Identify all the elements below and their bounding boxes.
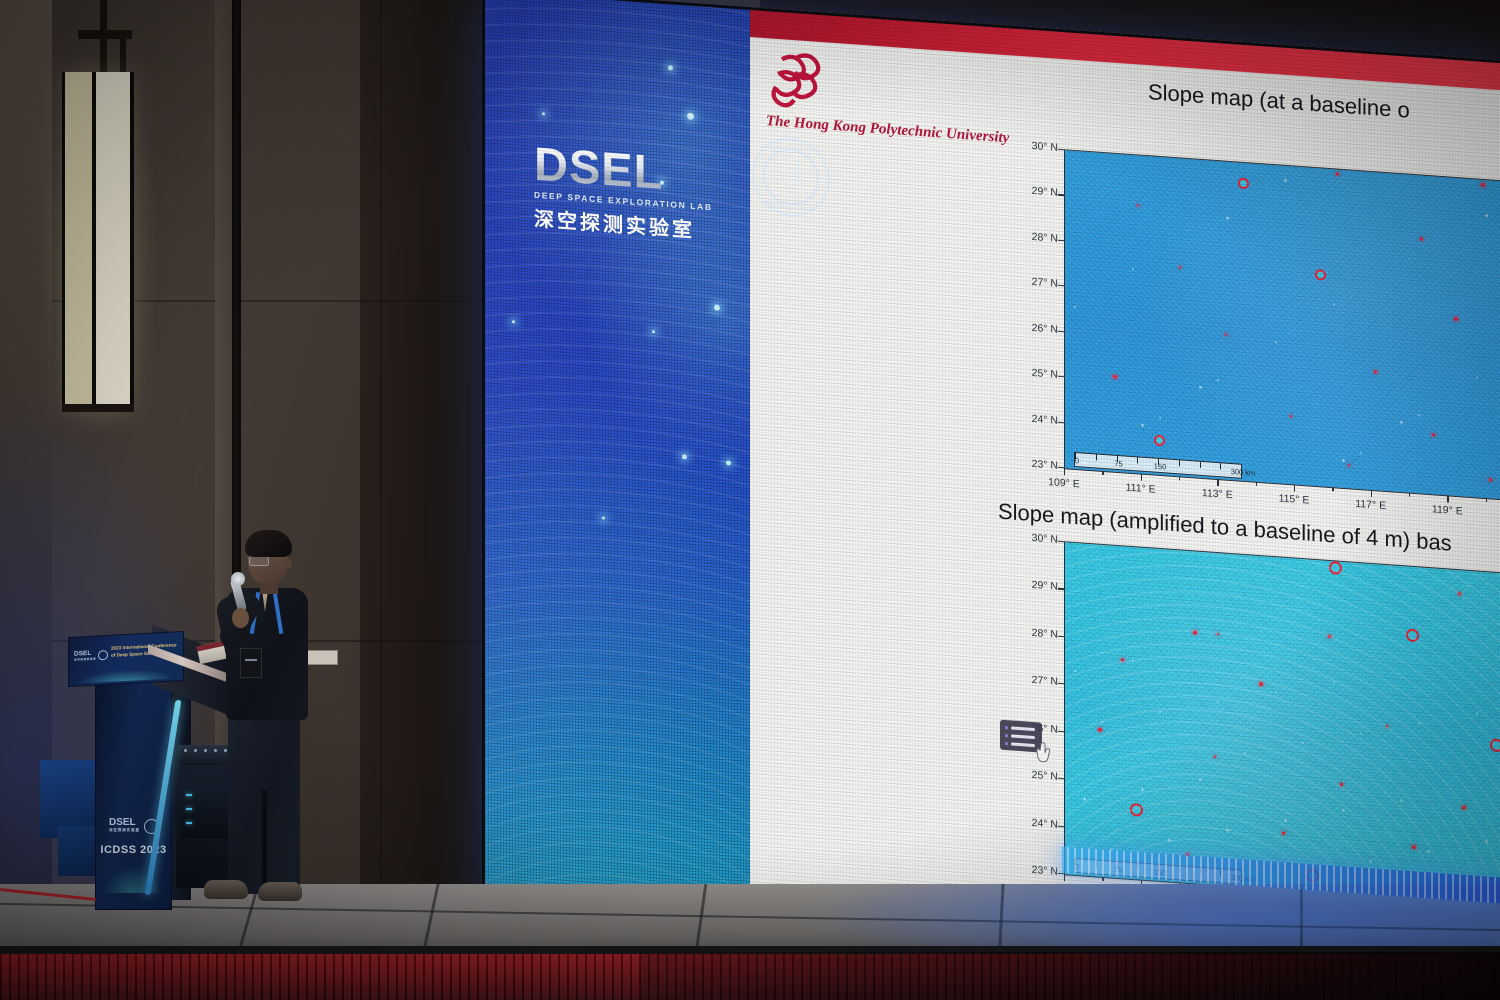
map-speckle: [1150, 583, 1151, 584]
map-speckle: [1217, 379, 1219, 381]
map-speckle: [1351, 605, 1352, 606]
microphone-head: [231, 572, 245, 586]
map-speckle: [1159, 417, 1161, 419]
map-speckle: [1400, 799, 1403, 802]
map-speckle: [1485, 214, 1488, 217]
toolbar-bullet: [1005, 734, 1008, 737]
map-marker: [1154, 435, 1165, 447]
map-speckle: [1409, 595, 1410, 596]
y-axis-label: 27° N: [1012, 275, 1058, 290]
map-marker: [1137, 204, 1139, 206]
scalebar-tick: [1096, 454, 1097, 460]
y-axis-label: 26° N: [1012, 320, 1058, 335]
map-speckle: [1342, 459, 1345, 462]
map-marker: [1193, 630, 1197, 634]
podium-top-seal-icon: [98, 650, 108, 661]
map-marker: [1481, 182, 1485, 186]
particle-glow: [682, 454, 687, 459]
map-speckle: [1342, 809, 1345, 812]
podium-top-brand: DSEL 深空探测实验室: [74, 650, 96, 662]
presenter-badge: [240, 648, 262, 678]
x-axis-tick: [1064, 874, 1065, 881]
map-speckle: [1092, 299, 1093, 300]
scalebar-tick: [1179, 460, 1180, 466]
map-speckle: [1177, 634, 1178, 635]
map-speckle: [1083, 798, 1086, 801]
toolbar-line: [1011, 726, 1035, 731]
x-axis-tick: [1486, 498, 1487, 502]
map-speckle: [1275, 691, 1277, 693]
map-marker: [1238, 177, 1249, 189]
map-speckle: [1150, 261, 1151, 262]
y-axis-tick: [1058, 149, 1064, 151]
y-axis-tick: [1058, 285, 1064, 287]
toolbar-line: [1011, 734, 1035, 739]
map-speckle: [1141, 788, 1144, 791]
map-speckle: [1400, 421, 1403, 424]
particle-glow: [726, 460, 731, 465]
map-speckle: [1199, 778, 1202, 781]
map-speckle: [1284, 179, 1287, 182]
map-marker: [1315, 269, 1326, 281]
y-axis-label: 23° N: [1012, 457, 1058, 472]
rack-indicator-led: [186, 794, 192, 796]
map-marker: [1113, 374, 1117, 378]
presenter-shoe-right: [258, 882, 302, 901]
map-speckle: [1208, 223, 1209, 224]
map-marker: [1432, 434, 1435, 437]
polyu-logo-icon: [766, 48, 830, 111]
presenter-hand: [232, 608, 249, 628]
mixer-knob: [194, 749, 197, 752]
rack-indicator-led: [186, 822, 192, 824]
mixer-knob: [224, 749, 227, 752]
map-speckle: [1074, 670, 1076, 672]
particle-glow: [602, 516, 605, 519]
map-speckle: [1217, 701, 1219, 703]
map-speckle: [1235, 624, 1236, 625]
screenshot-root: DSEL DEEP SPACE EXPLORATION LAB 深空探测实验室 …: [0, 0, 1500, 1000]
map-marker: [1336, 172, 1339, 175]
map-speckle: [1333, 681, 1335, 683]
y-axis-tick: [1058, 588, 1064, 590]
particle-glow: [687, 113, 694, 120]
map-marker: [1121, 659, 1124, 662]
map-speckle: [1360, 452, 1362, 454]
y-axis-tick: [1058, 376, 1064, 378]
map-speckle: [1132, 268, 1134, 270]
ustc-seal: 中国科学技术大学 1958 University of Science and …: [752, 135, 830, 219]
particle-glow: [542, 112, 545, 115]
map-marker: [1489, 479, 1492, 482]
hand-pointer-cursor-icon: [1036, 741, 1054, 766]
map-marker: [1420, 238, 1423, 241]
map-speckle: [1333, 303, 1335, 305]
particle-glow: [714, 304, 720, 310]
map-marker: [1225, 333, 1227, 335]
map-speckle: [1141, 424, 1144, 427]
map-marker: [1348, 465, 1350, 467]
map-speckle: [1302, 742, 1304, 744]
map-speckle: [1226, 829, 1229, 832]
y-axis-tick: [1058, 636, 1064, 638]
map-speckle: [1476, 376, 1478, 378]
y-axis-tick: [1058, 730, 1064, 732]
podium-top-brand-sub: 深空探测实验室: [74, 657, 96, 662]
rack-indicator-led: [186, 808, 192, 810]
led-wall-left-panel: [482, 0, 750, 942]
presenter-hair: [245, 530, 292, 557]
map-speckle: [1074, 306, 1076, 308]
x-axis-label: 113° E: [1193, 486, 1241, 501]
map-marker: [1328, 635, 1331, 638]
presenter-ear: [285, 558, 292, 569]
map-marker: [1282, 831, 1285, 834]
mixer-knob: [214, 749, 217, 752]
map-speckle: [1284, 819, 1287, 822]
x-axis-tick: [1447, 495, 1448, 502]
podium-skyline-graphic: [75, 667, 175, 683]
map-marker: [1179, 266, 1181, 268]
x-axis-tick: [1294, 484, 1295, 491]
map-marker: [1374, 371, 1377, 374]
map-marker: [1214, 756, 1216, 758]
y-axis-label: 30° N: [1012, 531, 1058, 546]
map-marker: [1412, 845, 1416, 849]
map-speckle: [1351, 297, 1352, 298]
map-speckle: [1101, 721, 1103, 723]
map-speckle: [1418, 414, 1420, 416]
y-axis-tick: [1058, 541, 1064, 543]
map-speckle: [1199, 386, 1202, 389]
map-speckle: [1092, 593, 1093, 594]
podium-body-brand: DSEL 深空探测实验室: [109, 817, 140, 833]
map-speckle: [1266, 564, 1267, 565]
dsel-logo: DSEL DEEP SPACE EXPLORATION LAB 深空探测实验室: [534, 142, 739, 246]
map-speckle: [1467, 221, 1468, 222]
slope-map-top-title: Slope map (at a baseline o: [1148, 79, 1410, 124]
map-speckle: [1409, 259, 1410, 260]
y-axis-label: 24° N: [1012, 815, 1058, 830]
x-axis-tick: [1217, 479, 1218, 486]
map-speckle: [1275, 341, 1277, 343]
map-speckle: [1293, 614, 1294, 615]
toolbar-bullet: [1005, 726, 1008, 729]
x-axis-tick: [1179, 476, 1180, 480]
x-axis-tick: [1102, 471, 1103, 475]
x-axis-label: 109° E: [1040, 476, 1088, 491]
y-axis-label: 23° N: [1012, 863, 1058, 878]
podium-body-brand-sub: 深空探测实验室: [109, 828, 140, 833]
map-speckle: [1418, 722, 1420, 724]
x-axis-tick: [1409, 493, 1410, 497]
map-speckle: [1226, 217, 1229, 220]
map-marker: [1329, 561, 1342, 575]
y-axis-tick: [1058, 778, 1064, 780]
scalebar-tick: [1220, 463, 1221, 469]
y-axis-label: 30° N: [1012, 139, 1058, 154]
y-axis-label: 27° N: [1012, 673, 1058, 688]
map-marker: [1130, 803, 1143, 817]
x-axis-tick: [1371, 490, 1372, 497]
stage-skirting-shadow: [640, 952, 1500, 1000]
y-axis-tick: [1058, 194, 1064, 196]
map-marker: [1454, 317, 1458, 321]
x-axis-label: 111° E: [1117, 481, 1165, 496]
particle-glow: [512, 320, 515, 323]
x-axis-tick: [1256, 482, 1257, 486]
map-marker: [1340, 783, 1343, 786]
scalebar-tick: [1200, 462, 1201, 468]
lamp-arm-drop: [120, 30, 126, 76]
map-speckle: [1369, 860, 1372, 863]
map-speckle: [1132, 660, 1134, 662]
mixer-knob: [184, 749, 187, 752]
map-speckle: [1485, 840, 1488, 843]
map-marker: [1458, 592, 1461, 595]
pendant-lamp: [62, 72, 134, 412]
presenter-shoe-left: [204, 880, 248, 899]
y-axis-tick: [1058, 825, 1064, 827]
map-marker: [1217, 633, 1219, 635]
map-speckle: [1065, 150, 1066, 151]
podium-event-code: ICDSS 2023: [96, 844, 171, 856]
led-video-wall: DSEL DEEP SPACE EXPLORATION LAB 深空探测实验室 …: [482, 0, 1500, 996]
toolbar-bullet: [1005, 742, 1008, 745]
map-speckle: [1168, 839, 1171, 842]
slope-map-top-plot: [1064, 149, 1500, 502]
polyu-branding: The Hong Kong Polytechnic University: [766, 48, 1009, 147]
y-axis-label: 29° N: [1012, 578, 1058, 593]
x-axis-tick: [1141, 474, 1142, 481]
x-axis-label: 119° E: [1423, 503, 1471, 518]
presenter-badge-line: [245, 659, 257, 661]
powerpoint-slide: The Hong Kong Polytechnic University Slo…: [750, 7, 1500, 996]
presenter-glasses: [249, 556, 269, 566]
y-axis-tick: [1058, 421, 1064, 423]
x-axis-tick: [1064, 468, 1065, 475]
map-speckle: [1293, 334, 1294, 335]
map-marker: [1290, 415, 1292, 417]
map-speckle: [1266, 186, 1267, 187]
map-marker: [1490, 739, 1500, 753]
map-speckle: [1244, 752, 1246, 754]
map-speckle: [1378, 655, 1379, 656]
map-speckle: [1208, 573, 1209, 574]
map-speckle: [1476, 712, 1478, 714]
x-axis-tick: [1332, 487, 1333, 491]
x-axis-label: 117° E: [1347, 497, 1395, 512]
podium-body-brand-text: DSEL: [109, 817, 136, 828]
toolbar-line: [1011, 742, 1035, 747]
map-marker: [1098, 728, 1102, 732]
map-marker: [1406, 628, 1419, 642]
map-speckle: [1494, 636, 1495, 637]
y-axis-label: 29° N: [1012, 184, 1058, 199]
y-axis-tick: [1058, 683, 1064, 685]
x-axis-label: 115° E: [1270, 492, 1318, 507]
mixer-knob: [204, 749, 207, 752]
map-speckle: [1436, 646, 1437, 647]
y-axis-label: 25° N: [1012, 366, 1058, 381]
y-axis-label: 28° N: [1012, 229, 1058, 244]
scalebar-tick: [1137, 457, 1138, 463]
y-axis-tick: [1058, 240, 1064, 242]
presenter-leg-gap: [262, 790, 267, 894]
y-axis-tick: [1058, 330, 1064, 332]
map-speckle: [1065, 542, 1066, 543]
y-axis-label: 28° N: [1012, 625, 1058, 640]
y-axis-label: 24° N: [1012, 411, 1058, 426]
y-axis-label: 25° N: [1012, 768, 1058, 783]
map-speckle: [1467, 585, 1468, 586]
map-speckle: [1427, 850, 1430, 853]
x-axis-tick: [1102, 877, 1103, 881]
map-speckle: [1360, 732, 1362, 734]
particle-glow: [668, 65, 673, 70]
map-marker: [1462, 806, 1466, 810]
particle-glow: [652, 330, 655, 333]
map-marker: [1259, 682, 1263, 686]
map-marker: [1386, 725, 1388, 727]
map-speckle: [1159, 711, 1161, 713]
